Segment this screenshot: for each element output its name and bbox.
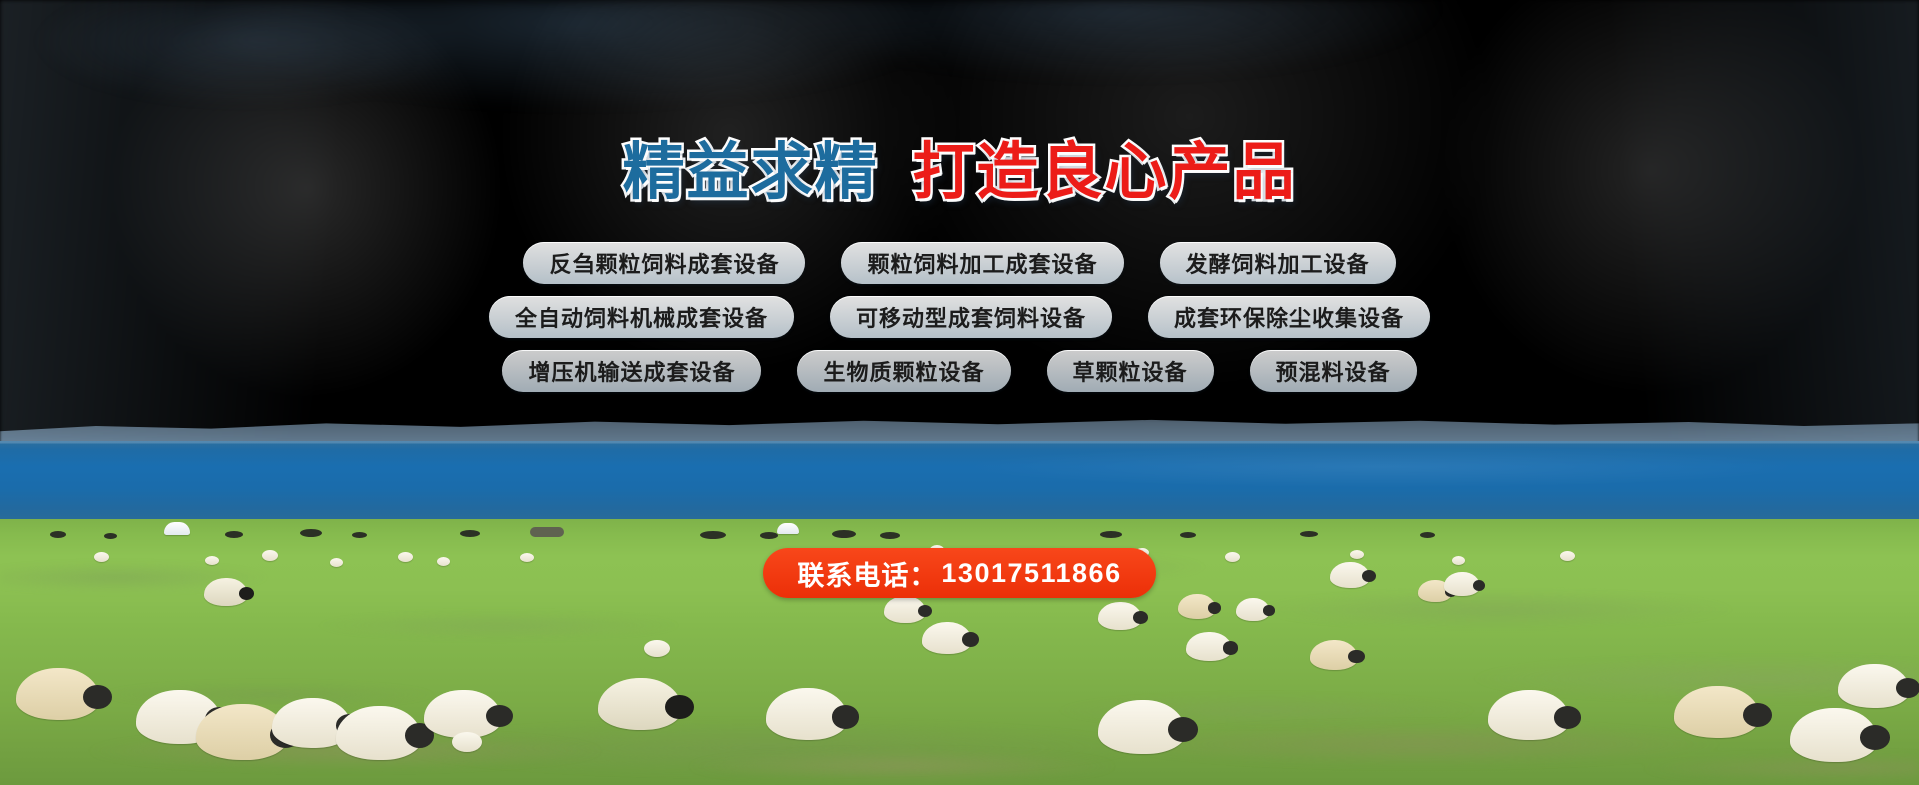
headline-part-red: 打造良心产品 [913, 142, 1297, 204]
category-pill-booster-conveying-complete-equipment[interactable]: 增压机输送成套设备 [502, 350, 761, 392]
contact-phone-label: 联系电话： [797, 554, 937, 593]
category-pill-pellet-feed-processing-complete-equipment[interactable]: 颗粒饲料加工成套设备 [841, 242, 1123, 284]
category-pill-groups: 反刍颗粒饲料成套设备 颗粒饲料加工成套设备 发酵饲料加工设备 全自动饲料机械成套… [0, 242, 1919, 404]
category-pill-biomass-pellet-equipment[interactable]: 生物质颗粒设备 [797, 350, 1010, 392]
category-pill-complete-environmental-dust-collection-equipment[interactable]: 成套环保除尘收集设备 [1148, 296, 1430, 338]
category-pill-fermented-feed-processing-equipment[interactable]: 发酵饲料加工设备 [1160, 242, 1396, 284]
category-row-1: 反刍颗粒饲料成套设备 颗粒饲料加工成套设备 发酵饲料加工设备 [0, 242, 1919, 284]
banner-content: 精益求精打造良心产品 反刍颗粒饲料成套设备 颗粒饲料加工成套设备 发酵饲料加工设… [0, 0, 1919, 785]
contact-cta-wrapper: 联系电话：13017511866 [0, 548, 1919, 598]
contact-phone-number: 13017511866 [941, 558, 1121, 589]
contact-phone-button[interactable]: 联系电话：13017511866 [763, 548, 1155, 598]
category-pill-premix-equipment[interactable]: 预混料设备 [1250, 350, 1417, 392]
category-row-3: 增压机输送成套设备 生物质颗粒设备 草颗粒设备 预混料设备 [0, 350, 1919, 392]
category-pill-movable-complete-feed-equipment[interactable]: 可移动型成套饲料设备 [830, 296, 1112, 338]
category-pill-ruminant-pellet-feed-complete-equipment[interactable]: 反刍颗粒饲料成套设备 [523, 242, 805, 284]
category-pill-fully-automatic-feed-machinery-complete-equipment[interactable]: 全自动饲料机械成套设备 [489, 296, 794, 338]
category-pill-grass-pellet-equipment[interactable]: 草颗粒设备 [1047, 350, 1214, 392]
banner-headline: 精益求精打造良心产品 [0, 142, 1919, 204]
headline-part-blue: 精益求精 [622, 142, 878, 204]
promo-banner: 精益求精打造良心产品 反刍颗粒饲料成套设备 颗粒饲料加工成套设备 发酵饲料加工设… [0, 0, 1919, 785]
category-row-2: 全自动饲料机械成套设备 可移动型成套饲料设备 成套环保除尘收集设备 [0, 296, 1919, 338]
